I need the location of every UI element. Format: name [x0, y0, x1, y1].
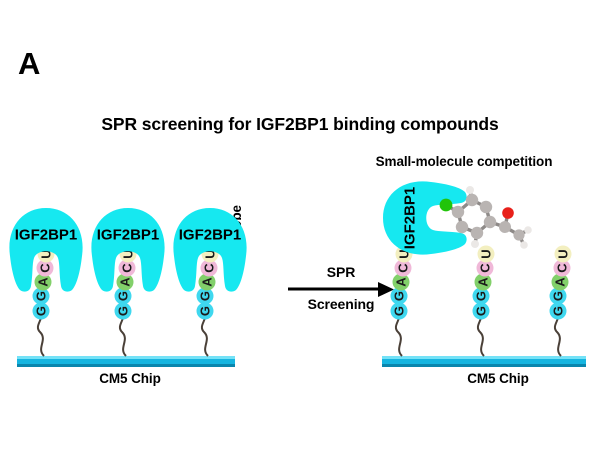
nucleotide-g1: G [551, 306, 566, 316]
protein-igf2bp1-right-displaced: IGF2BP1 [383, 181, 467, 254]
linker-icon [120, 314, 126, 356]
nucleotide-u: U [556, 249, 571, 258]
nucleotide-c: C [396, 263, 411, 273]
probe-assembly-left-3: G G A C U IGF2BP1 [173, 208, 246, 356]
nucleotide-c: C [478, 263, 493, 273]
nucleotide-g1: G [198, 306, 213, 316]
linker-icon [202, 314, 208, 356]
nucleotide-g1: G [116, 306, 131, 316]
nucleotide-g1: G [474, 306, 489, 316]
nucleotide-c: C [120, 263, 135, 273]
nucleotide-g2: G [198, 291, 213, 301]
nucleotide-a: A [36, 277, 51, 287]
nucleotide-g2: G [474, 291, 489, 301]
probe-assembly-right-2: G G A C U [473, 246, 495, 357]
linker-icon [396, 314, 402, 356]
nucleotide-a: A [118, 277, 133, 287]
rna-probe-left-3: G G A C U [197, 246, 219, 320]
protein-label: IGF2BP1 [97, 227, 160, 244]
nucleotide-a: A [200, 277, 215, 287]
nucleotide-c: C [38, 263, 53, 273]
cm5-chip-right [382, 356, 586, 367]
linker-icon [38, 314, 44, 356]
left-panel: G G A C U IGF2BP1 [9, 208, 246, 367]
nucleotide-a: A [476, 277, 491, 287]
cm5-chip-left [17, 356, 235, 367]
spr-screening-arrow [288, 282, 394, 297]
protein-label: IGF2BP1 [15, 227, 78, 244]
nucleotide-g1: G [34, 306, 49, 316]
probe-assembly-left-1: G G A C U IGF2BP1 [9, 208, 82, 356]
nucleotide-g1: G [392, 306, 407, 316]
protein-label: IGF2BP1 [179, 227, 242, 244]
probe-assembly-right-3: G G A C U [550, 246, 572, 357]
linker-icon [555, 314, 561, 356]
nucleotide-c: C [202, 263, 217, 273]
linker-icon [478, 314, 484, 356]
nucleotide-g2: G [392, 291, 407, 301]
nucleotide-c: C [555, 263, 570, 273]
probe-assembly-right-1: G G A C U [391, 246, 413, 357]
nucleotide-g2: G [551, 291, 566, 301]
nucleotide-a: A [553, 277, 568, 287]
diagram-canvas: G G A C U IGF2BP1 [0, 0, 600, 450]
probe-assembly-left-2: G G A C U IGF2BP1 [91, 208, 164, 356]
figure-root: A SPR screening for IGF2BP1 binding comp… [0, 0, 600, 450]
rna-probe-left-1: G G A C U [33, 246, 55, 320]
right-panel: G G A C U G G A C [382, 181, 586, 367]
nucleotide-g2: G [34, 291, 49, 301]
nucleotide-u: U [479, 249, 494, 258]
nucleotide-g2: G [116, 291, 131, 301]
protein-label: IGF2BP1 [402, 187, 419, 250]
rna-probe-left-2: G G A C U [115, 246, 137, 320]
nucleotide-a: A [394, 277, 409, 287]
